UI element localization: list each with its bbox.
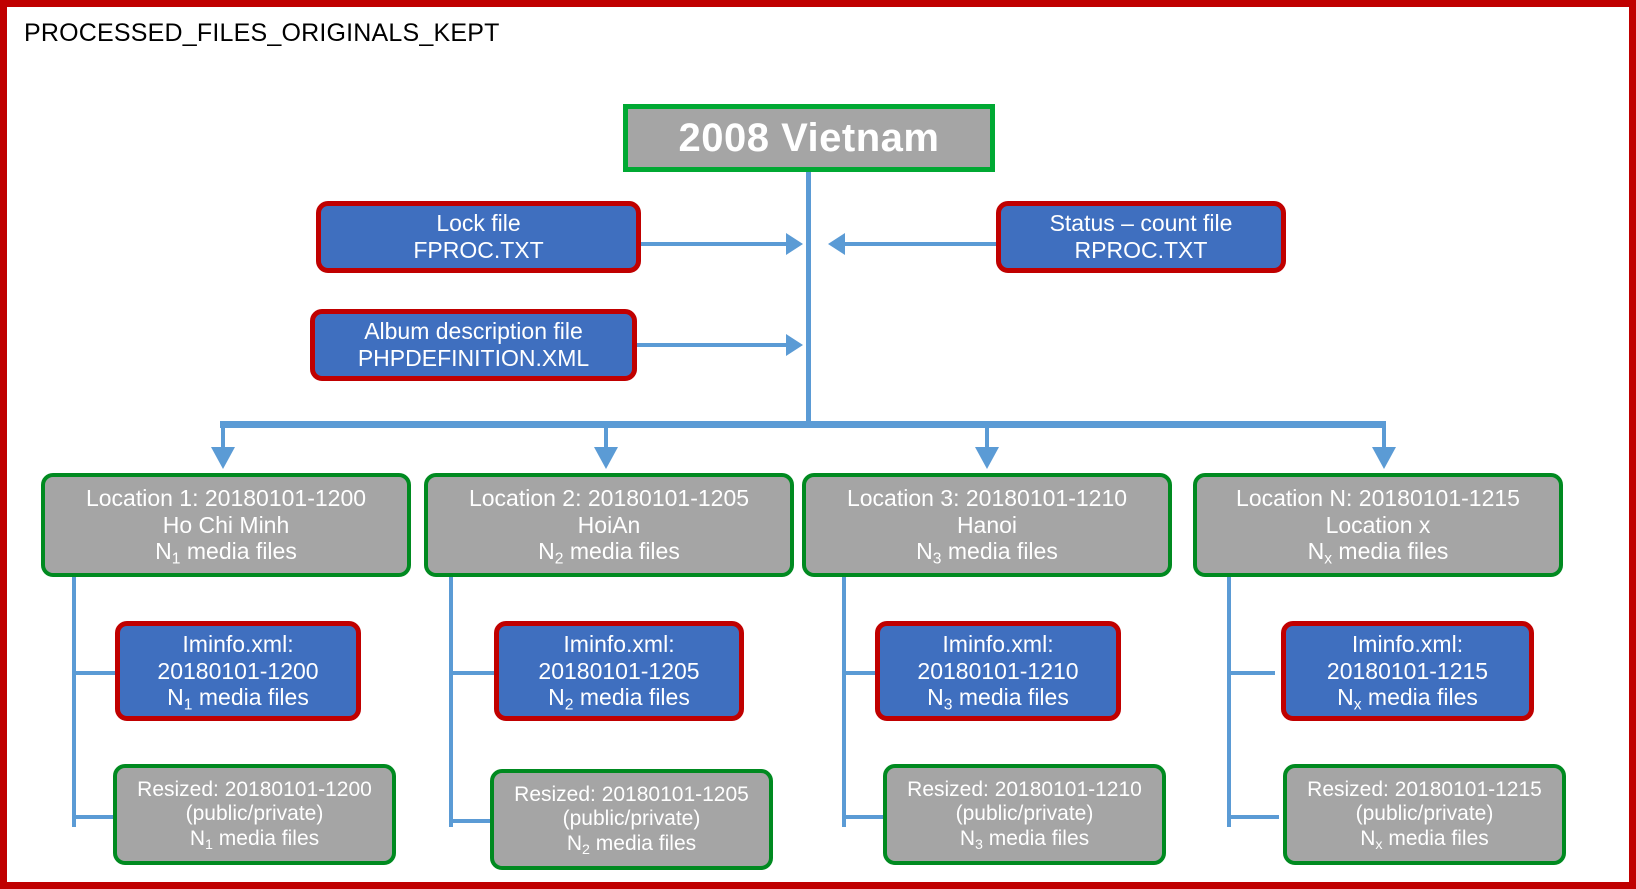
iminfo-4-line1: Iminfo.xml: (1352, 631, 1463, 658)
iminfo-3-count: N3 media files (927, 684, 1069, 711)
connector-column-2-to-iminfo (449, 671, 497, 675)
diagram-canvas: PROCESSED_FILES_ORIGINALS_KEPT 2008 Viet… (0, 0, 1636, 889)
resized-2-line1: Resized: 20180101-1205 (514, 783, 749, 808)
location-4-name: Location x (1326, 512, 1431, 539)
connector-distribution-bus (220, 421, 1386, 428)
connector-column-1-to-iminfo (72, 671, 118, 675)
resized-1-count: N1 media files (190, 827, 319, 852)
node-location-1[interactable]: Location 1: 20180101-1200 Ho Chi Minh N1… (41, 473, 411, 577)
arrowhead-location-3 (975, 447, 999, 469)
arrowhead-location-1 (211, 447, 235, 469)
resized-4-count: Nx media files (1360, 827, 1489, 852)
location-2-header: Location 2: 20180101-1205 (469, 485, 749, 512)
node-location-3[interactable]: Location 3: 20180101-1210 Hanoi N3 media… (802, 473, 1172, 577)
iminfo-2-line1: Iminfo.xml: (563, 631, 674, 658)
iminfo-2-count: N2 media files (548, 684, 690, 711)
location-2-name: HoiAn (578, 512, 641, 539)
location-3-count: N3 media files (916, 538, 1058, 565)
node-iminfo-1[interactable]: Iminfo.xml: 20180101-1200 N1 media files (115, 621, 361, 721)
location-4-count: Nx media files (1308, 538, 1449, 565)
location-4-header: Location N: 20180101-1215 (1236, 485, 1520, 512)
node-root-album[interactable]: 2008 Vietnam (623, 104, 995, 172)
iminfo-1-line1: Iminfo.xml: (182, 631, 293, 658)
node-album-description-file[interactable]: Album description file PHPDEFINITION.XML (310, 309, 637, 381)
iminfo-3-line1: Iminfo.xml: (942, 631, 1053, 658)
arrowhead-location-4 (1372, 447, 1396, 469)
node-resized-1[interactable]: Resized: 20180101-1200 (public/private) … (113, 764, 396, 865)
location-1-count: N1 media files (155, 538, 297, 565)
resized-1-line2: (public/private) (186, 802, 324, 827)
connector-lockfile-to-trunk (641, 242, 789, 246)
connector-column-1-spine (72, 577, 76, 827)
root-label: 2008 Vietnam (679, 115, 940, 162)
connector-statusfile-to-trunk (845, 242, 996, 246)
connector-column-4-to-resized (1227, 815, 1279, 819)
connector-trunk-vertical (806, 172, 811, 427)
lock-file-line2: FPROC.TXT (413, 237, 543, 264)
node-location-4[interactable]: Location N: 20180101-1215 Location x Nx … (1193, 473, 1563, 577)
location-1-name: Ho Chi Minh (163, 512, 290, 539)
iminfo-1-line2: 20180101-1200 (157, 658, 318, 685)
connector-albumfile-to-trunk (637, 343, 789, 347)
location-3-name: Hanoi (957, 512, 1017, 539)
node-iminfo-2[interactable]: Iminfo.xml: 20180101-1205 N2 media files (494, 621, 744, 721)
arrowhead-location-2 (594, 447, 618, 469)
iminfo-3-line2: 20180101-1210 (917, 658, 1078, 685)
connector-column-1-to-resized (72, 815, 114, 819)
node-resized-2[interactable]: Resized: 20180101-1205 (public/private) … (490, 769, 773, 870)
location-2-count: N2 media files (538, 538, 680, 565)
arrowhead-lockfile (786, 233, 803, 255)
album-file-line2: PHPDEFINITION.XML (358, 345, 589, 372)
status-file-line1: Status – count file (1050, 210, 1233, 237)
arrowhead-statusfile (828, 233, 845, 255)
node-resized-4[interactable]: Resized: 20180101-1215 (public/private) … (1283, 764, 1566, 865)
resized-4-line2: (public/private) (1356, 802, 1494, 827)
resized-2-line2: (public/private) (563, 807, 701, 832)
iminfo-4-line2: 20180101-1215 (1327, 658, 1488, 685)
node-status-count-file[interactable]: Status – count file RPROC.TXT (996, 201, 1286, 273)
resized-4-line1: Resized: 20180101-1215 (1307, 778, 1542, 803)
resized-3-count: N3 media files (960, 827, 1089, 852)
connector-column-3-spine (842, 577, 846, 827)
resized-3-line1: Resized: 20180101-1210 (907, 778, 1142, 803)
location-1-header: Location 1: 20180101-1200 (86, 485, 366, 512)
resized-2-count: N2 media files (567, 832, 696, 857)
node-lock-file[interactable]: Lock file FPROC.TXT (316, 201, 641, 273)
arrowhead-albumfile (786, 334, 803, 356)
lock-file-line1: Lock file (436, 210, 520, 237)
page-title: PROCESSED_FILES_ORIGINALS_KEPT (24, 19, 500, 48)
connector-column-4-spine (1227, 577, 1231, 827)
iminfo-1-count: N1 media files (167, 684, 309, 711)
resized-1-line1: Resized: 20180101-1200 (137, 778, 372, 803)
connector-column-2-spine (449, 577, 453, 827)
status-file-line2: RPROC.TXT (1075, 237, 1208, 264)
album-file-line1: Album description file (364, 318, 583, 345)
resized-3-line2: (public/private) (956, 802, 1094, 827)
node-iminfo-3[interactable]: Iminfo.xml: 20180101-1210 N3 media files (875, 621, 1121, 721)
connector-column-3-to-iminfo (842, 671, 878, 675)
iminfo-2-line2: 20180101-1205 (538, 658, 699, 685)
node-resized-3[interactable]: Resized: 20180101-1210 (public/private) … (883, 764, 1166, 865)
connector-column-2-to-resized (449, 819, 491, 823)
connector-column-3-to-resized (842, 815, 884, 819)
iminfo-4-count: Nx media files (1337, 684, 1478, 711)
node-location-2[interactable]: Location 2: 20180101-1205 HoiAn N2 media… (424, 473, 794, 577)
connector-column-4-to-iminfo (1227, 671, 1275, 675)
location-3-header: Location 3: 20180101-1210 (847, 485, 1127, 512)
node-iminfo-4[interactable]: Iminfo.xml: 20180101-1215 Nx media files (1281, 621, 1534, 721)
